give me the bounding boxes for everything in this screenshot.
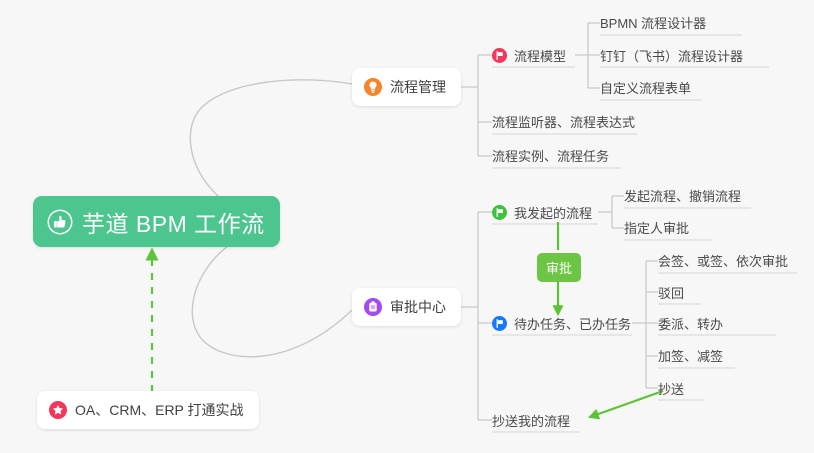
flag-icon [492, 205, 507, 220]
leaf-cc-to-me[interactable]: 抄送我的流程 [492, 411, 570, 435]
thumbs-up-icon [47, 209, 73, 235]
star-icon [49, 401, 67, 419]
leaf-add-remove-sign[interactable]: 加签、减签 [658, 346, 723, 370]
card-integration-practice[interactable]: OA、CRM、ERP 打通实战 [37, 391, 259, 429]
mindmap-canvas: 芋道 BPM 工作流 流程管理 流程模型 BPMN 流程设计器 钉钉（飞书）流程… [0, 0, 814, 453]
leaf-carbon-copy[interactable]: 抄送 [658, 379, 684, 403]
sub-node-my-initiated[interactable]: 我发起的流程 [492, 203, 592, 226]
card-integration-practice-label: OA、CRM、ERP 打通实战 [75, 400, 244, 420]
leaf-countersign[interactable]: 会签、或签、依次审批 [658, 251, 788, 275]
lightbulb-icon [364, 78, 382, 96]
clipboard-icon [364, 298, 382, 316]
leaf-reject[interactable]: 驳回 [658, 283, 684, 307]
root-label: 芋道 BPM 工作流 [82, 205, 265, 239]
leaf-bpmn-designer[interactable]: BPMN 流程设计器 [600, 13, 706, 37]
sub-node-process-model[interactable]: 流程模型 [492, 46, 566, 69]
sub-node-my-initiated-label: 我发起的流程 [514, 203, 592, 222]
leaf-process-listener[interactable]: 流程监听器、流程表达式 [492, 112, 635, 136]
flag-icon [492, 48, 507, 63]
branch-process-management[interactable]: 流程管理 [352, 68, 461, 106]
leaf-dingtalk-designer[interactable]: 钉钉（飞书）流程设计器 [600, 46, 743, 70]
approval-annotation-badge: 审批 [537, 253, 581, 282]
leaf-process-instance[interactable]: 流程实例、流程任务 [492, 146, 609, 170]
root-node[interactable]: 芋道 BPM 工作流 [33, 196, 280, 247]
sub-node-todo-done-tasks[interactable]: 待办任务、已办任务 [492, 314, 631, 337]
sub-node-process-model-label: 流程模型 [514, 46, 566, 65]
leaf-custom-form[interactable]: 自定义流程表单 [600, 78, 691, 102]
leaf-assignee-approval[interactable]: 指定人审批 [624, 218, 689, 242]
leaf-delegate-transfer[interactable]: 委派、转办 [658, 314, 723, 338]
arrow-cc-to-ccme [590, 391, 663, 417]
flag-icon [492, 316, 507, 331]
sub-node-todo-done-tasks-label: 待办任务、已办任务 [514, 314, 631, 333]
branch-approval-center-label: 审批中心 [390, 297, 446, 317]
branch-process-management-label: 流程管理 [390, 77, 446, 97]
leaf-initiate-cancel[interactable]: 发起流程、撤销流程 [624, 186, 741, 210]
branch-approval-center[interactable]: 审批中心 [352, 288, 461, 326]
